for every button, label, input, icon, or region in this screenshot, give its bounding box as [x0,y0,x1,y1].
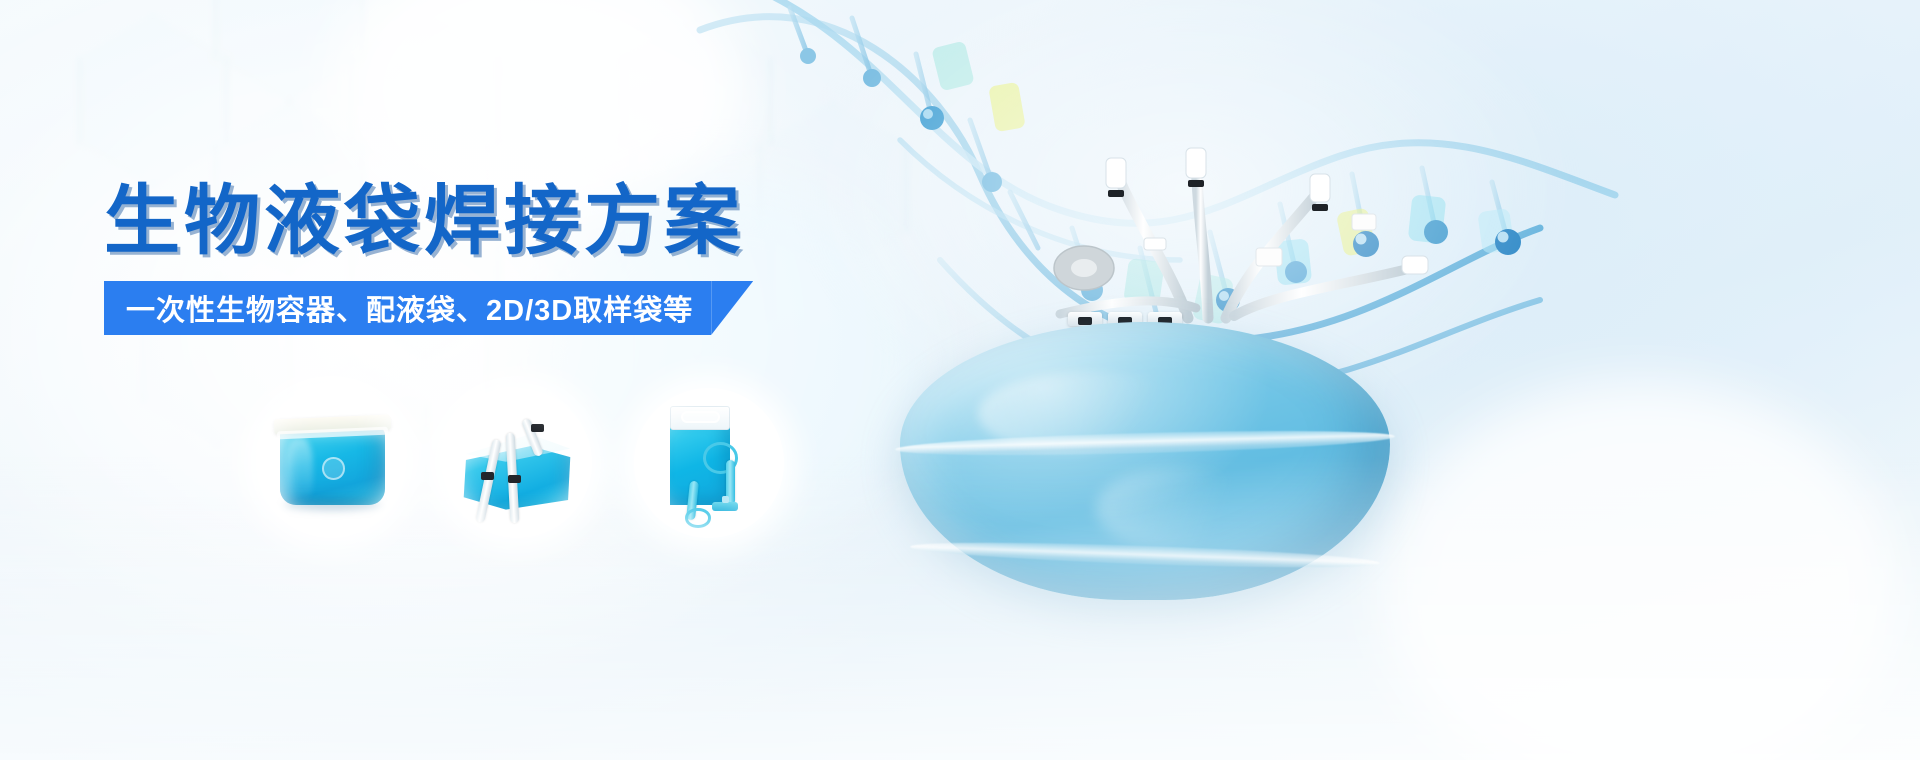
bag-tube-left [475,439,501,523]
product-thumbnail-2[interactable] [442,388,592,538]
product-thumbnail-3[interactable] [634,388,784,538]
tubing-connector-assembly [1020,118,1440,328]
subtitle-ribbon: 一次性生物容器、配液袋、2D/3D取样袋等 [104,281,753,335]
page-title: 生物液袋焊接方案 [104,184,744,260]
tube-clamp-top [531,424,544,432]
subtitle-ribbon-body: 一次性生物容器、配液袋、2D/3D取样袋等 [104,281,711,335]
bag-top-strip [274,414,392,434]
tube-lower-loop [685,508,711,528]
sampling-tube-lower [686,481,699,521]
tube-clamp-left [481,472,494,480]
subtitle-text: 一次性生物容器、配液袋、2D/3D取样袋等 [126,287,693,329]
bag-seal-line [277,426,388,438]
product-banner: 生物液袋焊接方案 一次性生物容器、配液袋、2D/3D取样袋等 [0,0,1920,760]
cube-bag-with-tubes-image [442,388,592,538]
bag-highlight [286,438,313,504]
sampling-valve [712,502,738,511]
bag-port-ring [322,457,345,480]
tube-clamp-right [508,475,521,483]
tube-coil-loop [703,442,738,474]
ribbon-arrow-tail [711,281,753,335]
flat-pillow-bag-image [256,388,406,538]
sampling-bag-header [670,406,730,430]
bag-tube-right [506,433,520,523]
product-thumbnail-1[interactable] [256,388,406,538]
sampling-bag-body [670,427,730,505]
bag-bottom-shadow [283,499,382,511]
sampling-bag-handle [681,411,720,423]
cube-bag-top-facet [462,433,573,463]
bag-tube-top [521,418,544,458]
sampling-bag-image [634,388,784,538]
bag-liquid-body [280,427,385,505]
cube-bag-body [462,442,573,511]
sampling-tube-vertical [726,460,735,505]
